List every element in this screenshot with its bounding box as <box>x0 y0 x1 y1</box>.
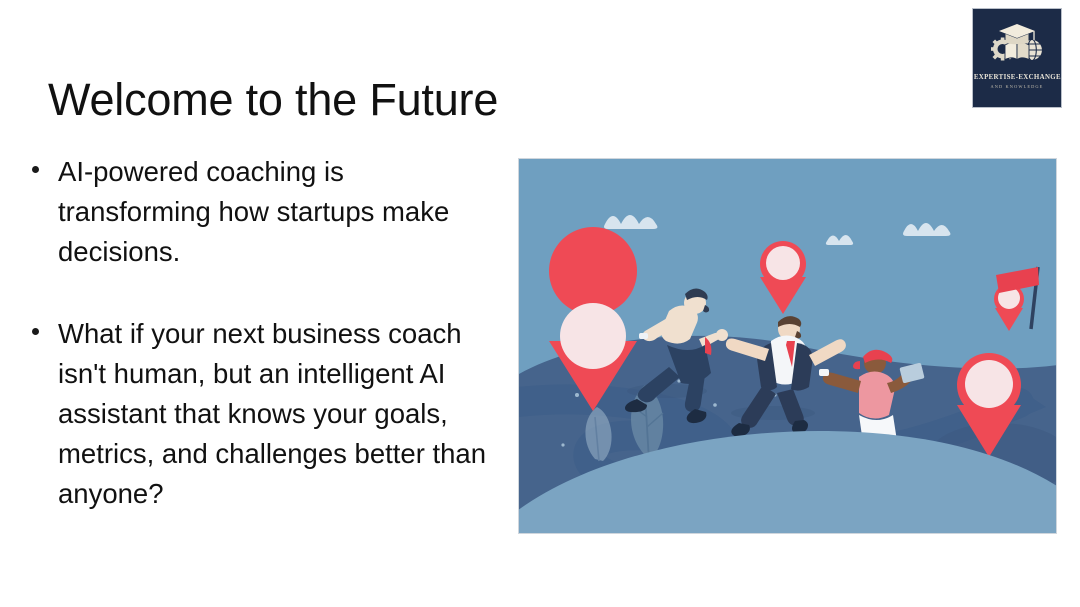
bullet-text: AI-powered coaching is transforming how … <box>58 152 502 272</box>
company-logo: EXPERTISE-EXCHANGE AND KNOWLEDGE <box>972 8 1062 108</box>
bullet-text: What if your next business coach isn't h… <box>58 314 502 514</box>
slide-canvas: EXPERTISE-EXCHANGE AND KNOWLEDGE Welcome… <box>0 0 1080 607</box>
bullet-list: AI-powered coaching is transforming how … <box>32 152 502 514</box>
logo-company-name: EXPERTISE-EXCHANGE <box>973 73 1060 81</box>
logo-tagline: AND KNOWLEDGE <box>991 84 1044 89</box>
bullet-item: What if your next business coach isn't h… <box>32 314 502 514</box>
bullet-item: AI-powered coaching is transforming how … <box>32 152 502 272</box>
slide-illustration <box>518 158 1057 534</box>
bullet-dot-icon <box>32 166 39 173</box>
slide-title: Welcome to the Future <box>48 74 498 126</box>
graduation-cap-book-globe-gear-icon <box>989 18 1045 68</box>
bullet-dot-icon <box>32 328 39 335</box>
